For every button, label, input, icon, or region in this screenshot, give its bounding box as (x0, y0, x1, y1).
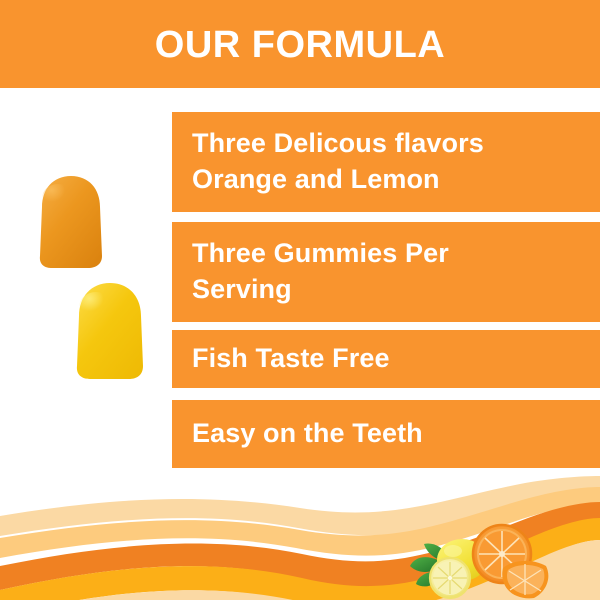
formula-poster: OUR FORMULA (0, 0, 600, 600)
feature-bar: Fish Taste Free (172, 330, 600, 388)
page-title: OUR FORMULA (155, 26, 445, 64)
feature-text-line: Three Gummies Per (192, 236, 582, 272)
header-banner: OUR FORMULA (0, 0, 600, 88)
feature-bar: Easy on the Teeth (172, 400, 600, 468)
halved-lemon (430, 558, 470, 598)
feature-text-line: Serving (192, 272, 582, 308)
feature-text-line: Orange and Lemon (192, 162, 582, 198)
citrus-fruit-cluster (408, 512, 558, 600)
feature-text-line: Easy on the Teeth (192, 416, 582, 452)
feature-text-line: Fish Taste Free (192, 341, 582, 377)
feature-bar: Three Delicous flavors Orange and Lemon (172, 112, 600, 212)
orange-gummy-image (36, 174, 106, 272)
yellow-gummy-image (70, 281, 150, 382)
feature-bar: Three Gummies Per Serving (172, 222, 600, 322)
orange-wedge (502, 561, 548, 598)
feature-text-line: Three Delicous flavors (192, 126, 582, 162)
